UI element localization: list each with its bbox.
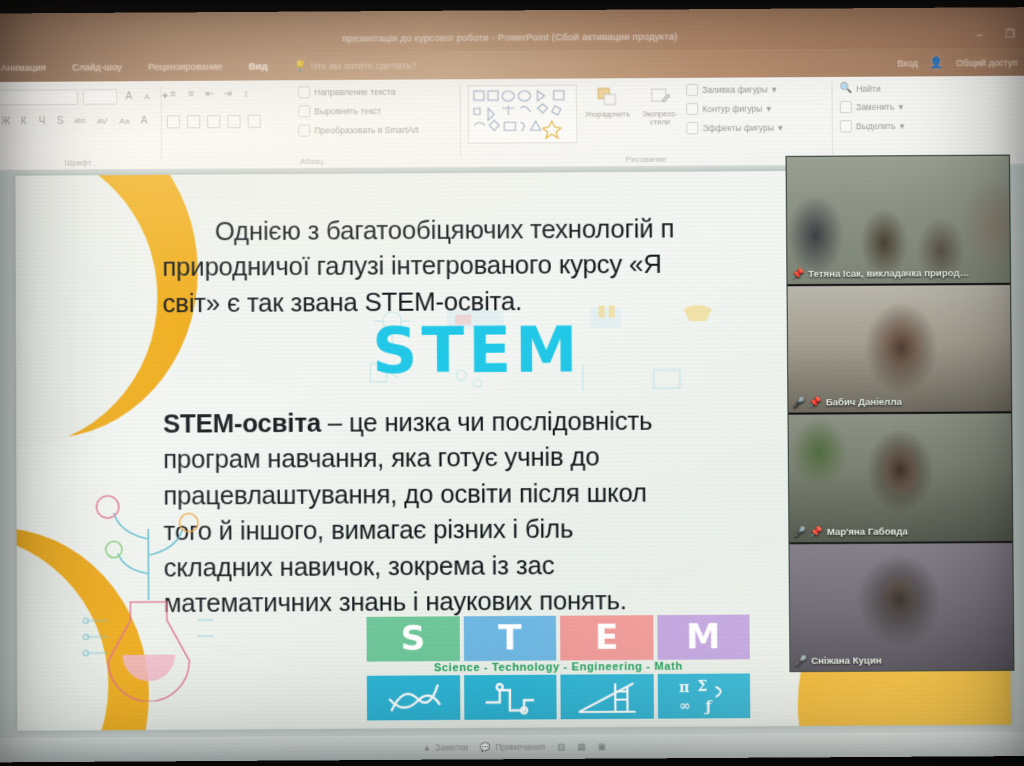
stem-letter-m: M — [657, 615, 750, 660]
slide-paragraph-2[interactable]: STEM-освіта – це низка чи послідовність … — [163, 403, 873, 623]
stem-logo: S T E M Science - Technology - Engineeri… — [366, 615, 750, 719]
paragraph2-line1-rest: – це низка чи послідовність — [321, 407, 652, 437]
stem-icon-science — [367, 675, 460, 720]
paragraph2-line1: STEM-освіта – це низка чи послідовність — [163, 403, 872, 443]
stem-logo-letters-row: S T E M — [366, 615, 749, 662]
increase-indent-button[interactable]: ⇥ — [221, 89, 234, 100]
underline-button[interactable]: Ч — [35, 116, 48, 127]
magnifier-icon: 🔍 — [840, 83, 853, 94]
stem-letter-e: E — [560, 615, 653, 660]
quick-styles-button[interactable]: Экспресс-стили — [635, 86, 684, 126]
science-line-art — [77, 468, 220, 702]
ribbon-group-editing: 🔍 Найти Заменить ▾ Выделить ▾ Редактиров… — [835, 76, 967, 166]
arrange-button[interactable]: Упорядочить — [583, 86, 632, 126]
group-label-font: Шрифт — [0, 158, 159, 168]
comment-icon: 💬 — [480, 742, 491, 753]
paragraph1-line1: Однією з багатообіцяючих технологій п — [162, 211, 870, 251]
mic-off-icon: 🎤 — [792, 397, 805, 408]
arrange-icon — [595, 86, 619, 108]
circuit-icon — [478, 678, 543, 717]
font-size-input[interactable] — [83, 89, 117, 104]
tab-slideshow[interactable]: Слайд-шоу — [72, 62, 122, 73]
strikethrough-button[interactable]: S — [54, 116, 67, 127]
stem-logo-icons-row: πΣ ∞ƒ — [367, 673, 750, 720]
mic-off-icon: 🎤 — [794, 656, 807, 667]
convert-smartart-button[interactable]: Преобразовать в SmartArt — [298, 123, 418, 138]
shape-effects-button[interactable]: Эффекты фигуры ▾ — [686, 121, 782, 136]
decrease-indent-button[interactable]: ⇤ — [203, 89, 216, 100]
tab-view[interactable]: Вид — [249, 61, 268, 72]
monitor-photo: презентація до курсової роботи - PowerPo… — [0, 0, 1024, 766]
paragraph2-line5: складних навичок, зокрема із зас — [164, 547, 873, 587]
paragraph2-line4: того й іншого, вимагає різних і біль — [163, 511, 872, 551]
pin-icon[interactable]: 📌 — [791, 268, 804, 279]
svg-text:ƒ: ƒ — [704, 699, 713, 715]
minimize-button[interactable]: – — [976, 28, 982, 40]
participant-name-row-2: 🎤 📌 Бабич Даніелла — [788, 394, 1011, 411]
align-left-icon[interactable] — [167, 115, 180, 128]
font-name-input[interactable] — [0, 90, 78, 106]
shape-fill-icon — [686, 84, 698, 96]
character-spacing-button[interactable]: AV — [93, 117, 111, 126]
paragraph2-bold-lead: STEM-освіта — [163, 409, 321, 438]
notes-icon: ▲ — [423, 742, 432, 752]
shape-outline-icon — [686, 103, 698, 115]
stem-icon-engineering — [560, 674, 653, 719]
smartart-icon — [298, 125, 310, 137]
select-button[interactable]: Выделить ▾ — [840, 119, 904, 134]
svg-text:π: π — [679, 680, 690, 696]
shape-gallery[interactable] — [468, 85, 577, 144]
text-direction-button[interactable]: Направление текста — [298, 85, 418, 100]
quick-styles-icon — [648, 86, 672, 108]
math-symbols-icon: πΣ ∞ƒ — [671, 677, 736, 716]
person-icon: 👤 — [930, 56, 944, 69]
align-center-icon[interactable] — [187, 115, 200, 128]
video-tile-3[interactable]: 🎤 📌 Мар'яна Габовда — [789, 413, 1013, 541]
chevron-down-icon: ▾ — [766, 103, 770, 114]
replace-button[interactable]: Заменить ▾ — [840, 100, 904, 115]
stem-icon-math: πΣ ∞ƒ — [657, 673, 750, 718]
ribbon-divider — [460, 84, 461, 157]
align-text-button[interactable]: Выровнять текст — [298, 104, 418, 119]
account-area: Вход 👤 Общий доступ — [897, 55, 1017, 69]
shape-effects-icon — [686, 122, 698, 134]
tab-review[interactable]: Рецензирование — [148, 61, 222, 73]
align-right-icon[interactable] — [207, 115, 220, 128]
tab-animation[interactable]: Анимация — [1, 62, 46, 73]
notes-button[interactable]: ▲ Заметки — [423, 741, 469, 753]
video-tile-1[interactable]: 📌 Тетяна Ісак, викладачка природ… — [787, 156, 1010, 284]
stem-icon-technology — [464, 675, 557, 720]
view-reading-button[interactable]: ▣ — [598, 741, 606, 752]
video-call-panel[interactable]: 📌 Тетяна Ісак, викладачка природ… 🎤 📌 Ба… — [786, 155, 1015, 673]
participant-name-4: Сніжана Куцин — [811, 655, 882, 667]
chevron-down-icon: ▾ — [778, 122, 782, 133]
change-case-button[interactable]: Aa — [116, 117, 132, 126]
participant-name-3: Мар'яна Габовда — [827, 526, 908, 538]
grow-font-button[interactable]: A — [122, 91, 135, 102]
comments-button[interactable]: 💬 Примечания — [480, 740, 545, 754]
numbering-button[interactable]: ≡ — [185, 89, 198, 100]
paragraph2-line3: працевлаштування, до освіти після школ — [163, 475, 872, 515]
ribbon-group-font: A A ✦ Ж К Ч S abc AV Aa A Шрифт — [0, 81, 159, 171]
video-tile-2[interactable]: 🎤 📌 Бабич Даніелла — [788, 284, 1012, 412]
paragraph1-line2: природничої галузі інтегрованого курсу «… — [162, 247, 870, 287]
tell-me-box[interactable]: 💡 Что вы хотите сделать? — [294, 60, 417, 72]
sign-in-link[interactable]: Вход — [897, 57, 918, 67]
shape-fill-button[interactable]: Заливка фигуры ▾ — [686, 82, 782, 97]
chevron-down-icon: ▾ — [900, 120, 904, 131]
status-center: ▲ Заметки 💬 Примечания ▥ ▦ ▣ — [423, 740, 606, 754]
shrink-font-button[interactable]: A — [140, 92, 153, 101]
italic-button[interactable]: К — [17, 116, 30, 127]
line-spacing-button[interactable]: ↕ — [239, 89, 252, 100]
pin-icon[interactable]: 📌 — [810, 526, 823, 537]
bridge-icon — [574, 677, 639, 716]
ribbon-group-drawing: Упорядочить Экспресс-стили Заливка фигур… — [464, 77, 830, 168]
find-button[interactable]: 🔍 Найти — [840, 82, 904, 96]
cursor-select-icon — [840, 120, 852, 132]
participant-name-2: Бабич Даніелла — [826, 397, 902, 409]
participant-name-row-4: 🎤 Сніжана Куцин — [790, 653, 1013, 670]
participant-name-1: Тетяна Ісак, викладачка природ… — [808, 267, 969, 279]
window-title: презентація до курсової роботи - PowerPo… — [0, 29, 1024, 46]
group-label-paragraph: Абзац — [165, 156, 458, 167]
svg-text:∞: ∞ — [679, 698, 691, 714]
pin-icon[interactable]: 📌 — [809, 397, 822, 408]
replace-icon — [840, 101, 852, 113]
participant-name-row-3: 🎤 📌 Мар'яна Габовда — [789, 523, 1012, 540]
stem-letter-t: T — [463, 616, 556, 661]
svg-text:Σ: Σ — [698, 679, 708, 695]
restore-button[interactable]: ❐ — [1005, 27, 1015, 40]
font-color-button[interactable]: A — [137, 115, 150, 126]
view-sorter-button[interactable]: ▦ — [577, 741, 585, 752]
shape-outline-button[interactable]: Контур фигуры ▾ — [686, 101, 782, 116]
video-tile-4[interactable]: 🎤 Сніжана Куцин — [789, 542, 1013, 671]
columns-icon[interactable] — [248, 115, 261, 128]
text-direction-icon — [298, 86, 310, 98]
titlebar: презентація до курсової роботи - PowerPo… — [0, 7, 1024, 54]
participant-name-row-1: 📌 Тетяна Ісак, викладачка природ… — [787, 265, 1010, 282]
chevron-down-icon: ▾ — [898, 101, 902, 112]
chevron-down-icon: ▾ — [772, 84, 776, 95]
tell-me-label: Что вы хотите сделать? — [310, 60, 416, 72]
screen: презентація до курсової роботи - PowerPo… — [0, 7, 1024, 762]
paragraph2-line2: програм навчання, яка готує учнів до — [163, 439, 872, 479]
group-label-drawing: Рисование — [585, 154, 706, 164]
text-shadow-button[interactable]: abc — [72, 118, 88, 125]
bold-button[interactable]: Ж — [0, 116, 12, 127]
stem-letter-s: S — [366, 616, 459, 661]
shape-gallery-icons — [469, 86, 576, 143]
window-controls[interactable]: – ❐ — [976, 27, 1014, 40]
ribbon-group-paragraph: ≡ ≡ ⇤ ⇥ ↕ Направление текста — [165, 79, 459, 170]
dna-icon — [381, 678, 446, 717]
align-text-icon — [298, 105, 310, 117]
ribbon-divider — [831, 82, 833, 155]
share-button[interactable]: Общий доступ — [956, 57, 1017, 67]
stem-wordmark: STEM — [372, 318, 747, 383]
justify-icon[interactable] — [227, 115, 240, 128]
bullets-button[interactable]: ≡ — [167, 89, 180, 100]
view-normal-button[interactable]: ▥ — [557, 741, 565, 752]
lightbulb-icon: 💡 — [294, 60, 307, 71]
mic-off-icon: 🎤 — [793, 527, 806, 538]
